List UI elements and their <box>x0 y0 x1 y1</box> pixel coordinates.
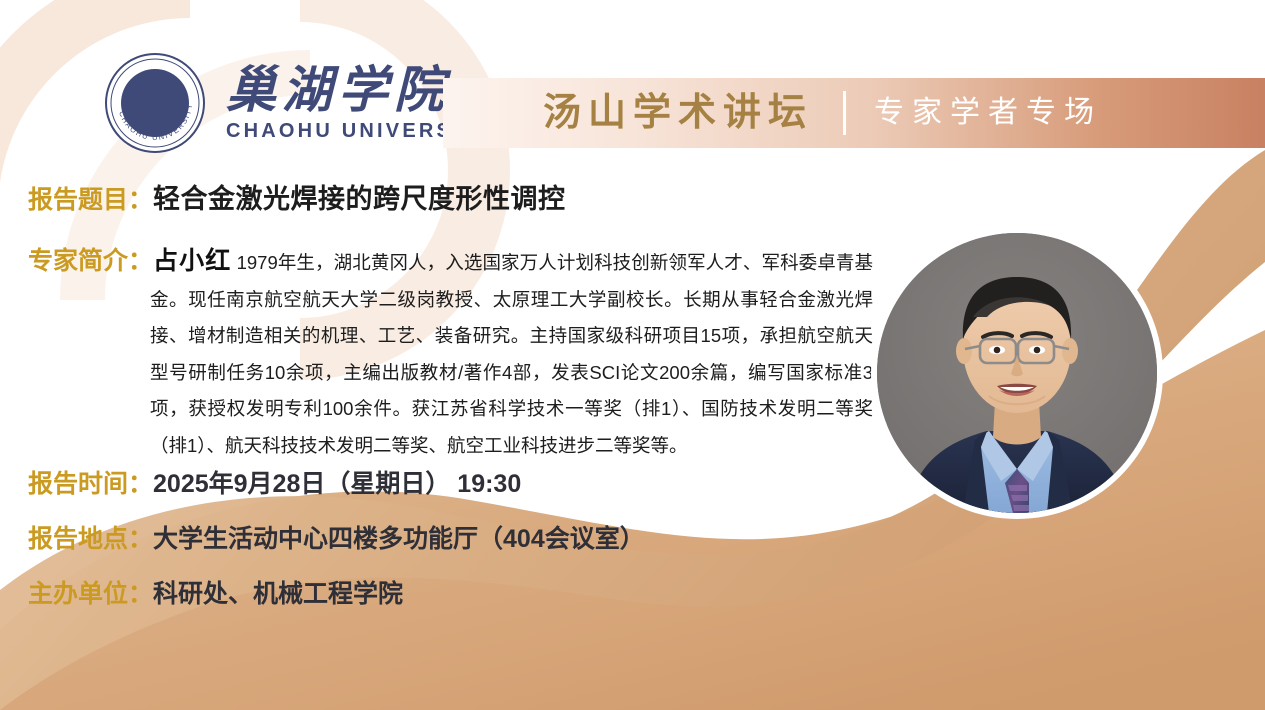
seminar-poster: 1977 CHAOHU UNIVERSITY 巢湖学院 CHAOHU UNIVE… <box>0 0 1265 710</box>
talk-place-value: 大学生活动中心四楼多功能厅（404会议室） <box>153 519 645 555</box>
talk-time-label: 报告时间： <box>28 464 153 500</box>
poster-content: 报告题目： 轻合金激光焊接的跨尺度形性调控 专家简介： 占小红 1979年生，湖… <box>0 0 1265 710</box>
talk-time-value: 2025年9月28日（星期日） 19:30 <box>153 464 521 500</box>
speaker-bio-row: 专家简介： 占小红 1979年生，湖北黄冈人，入选国家万人计划科技创新领军人才、… <box>28 243 873 464</box>
talk-host-label: 主办单位： <box>28 574 153 610</box>
talk-place-row: 报告地点： 大学生活动中心四楼多功能厅（404会议室） <box>28 519 645 555</box>
talk-place-label: 报告地点： <box>28 519 153 555</box>
talk-host-value: 科研处、机械工程学院 <box>153 574 403 610</box>
talk-time-row: 报告时间： 2025年9月28日（星期日） 19:30 <box>28 464 521 500</box>
talk-host-row: 主办单位： 科研处、机械工程学院 <box>28 574 403 610</box>
talk-title-value: 轻合金激光焊接的跨尺度形性调控 <box>153 177 566 216</box>
speaker-portrait-photo <box>877 233 1157 513</box>
speaker-bio-text: 1979年生，湖北黄冈人，入选国家万人计划科技创新领军人才、军科委卓青基金。现任… <box>150 252 873 456</box>
speaker-name: 占小红 <box>153 247 231 275</box>
speaker-bio-label: 专家简介： <box>28 243 153 280</box>
speaker-bio-body: 占小红 1979年生，湖北黄冈人，入选国家万人计划科技创新领军人才、军科委卓青基… <box>150 243 873 464</box>
talk-title-row: 报告题目： 轻合金激光焊接的跨尺度形性调控 <box>28 177 566 216</box>
talk-title-label: 报告题目： <box>28 180 153 216</box>
